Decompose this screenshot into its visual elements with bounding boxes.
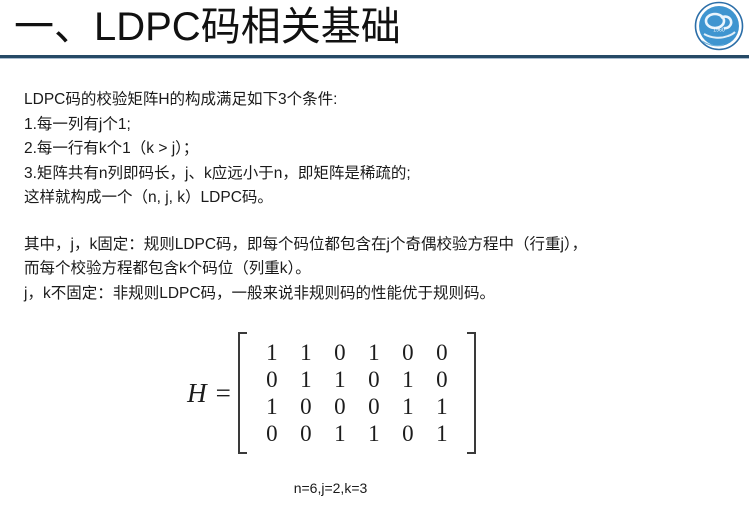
- matrix-cell-r3-c3: 0: [323, 393, 357, 420]
- matrix-right-bracket: [465, 332, 476, 454]
- matrix-cell-r3-c6: 1: [425, 393, 459, 420]
- matrix-cell-r1-c2: 1: [289, 339, 323, 366]
- matrix-cell-r4-c1: 0: [255, 420, 289, 447]
- parity-check-matrix: 110100011010100011001101: [238, 332, 476, 454]
- matrix-cell-r1-c6: 0: [425, 339, 459, 366]
- matrix-cell-r3-c5: 1: [391, 393, 425, 420]
- matrix-cell-r2-c4: 0: [357, 366, 391, 393]
- logo-year-text: 1960: [713, 28, 725, 34]
- matrix-left-bracket: [238, 332, 249, 454]
- matrix-cell-r1-c3: 0: [323, 339, 357, 366]
- matrix-equation: H = 110100011010100011001101: [0, 332, 749, 454]
- matrix-cell-r1-c1: 1: [255, 339, 289, 366]
- body-line: 2.每一行有k个1（k > j）；: [24, 137, 736, 162]
- paragraph-spacer: [24, 211, 736, 233]
- university-logo-icon: 1960: [694, 1, 744, 51]
- matrix-cell-r4-c6: 1: [425, 420, 459, 447]
- slide-body-text: LDPC码的校验矩阵H的构成满足如下3个条件: 1.每一列有j个1; 2.每一行…: [24, 88, 736, 306]
- slide-title-band: 一、LDPC码相关基础: [0, 0, 749, 58]
- title-divider-rule-soft: [0, 58, 749, 59]
- matrix-cell-r3-c4: 0: [357, 393, 391, 420]
- slide-root: 一、LDPC码相关基础 1960 LDPC码的校验矩阵H的构成满足如下3个条件:…: [0, 0, 749, 524]
- matrix-cell-r2-c1: 0: [255, 366, 289, 393]
- body-line: j，k不固定：非规则LDPC码，一般来说非规则码的性能优于规则码。: [24, 282, 736, 307]
- matrix-cell-grid: 110100011010100011001101: [249, 332, 465, 454]
- matrix-cell-r2-c5: 1: [391, 366, 425, 393]
- matrix-cell-r1-c4: 1: [357, 339, 391, 366]
- matrix-cell-r4-c4: 1: [357, 420, 391, 447]
- page-title: 一、LDPC码相关基础: [14, 1, 401, 53]
- body-line: 这样就构成一个（n, j, k）LDPC码。: [24, 186, 736, 211]
- matrix-cell-r4-c5: 0: [391, 420, 425, 447]
- equals-sign: =: [216, 380, 231, 407]
- matrix-cell-r2-c3: 1: [323, 366, 357, 393]
- matrix-cell-r2-c6: 0: [425, 366, 459, 393]
- body-line: 1.每一列有j个1;: [24, 113, 736, 138]
- matrix-caption: n=6,j=2,k=3: [0, 480, 749, 496]
- matrix-cell-r3-c2: 0: [289, 393, 323, 420]
- matrix-cell-r4-c2: 0: [289, 420, 323, 447]
- matrix-cell-r1-c5: 0: [391, 339, 425, 366]
- matrix-cell-r3-c1: 1: [255, 393, 289, 420]
- paragraph-conditions: LDPC码的校验矩阵H的构成满足如下3个条件: 1.每一列有j个1; 2.每一行…: [24, 88, 736, 211]
- paragraph-regular-irregular: 其中，j，k固定：规则LDPC码，即每个码位都包含在j个奇偶校验方程中（行重j）…: [24, 233, 736, 307]
- body-line: 3.矩阵共有n列即码长，j、k应远小于n，即矩阵是稀疏的;: [24, 162, 736, 187]
- matrix-cell-r2-c2: 1: [289, 366, 323, 393]
- body-line: 而每个校验方程都包含k个码位（列重k）。: [24, 257, 736, 282]
- matrix-cell-r4-c3: 1: [323, 420, 357, 447]
- body-line: 其中，j，k固定：规则LDPC码，即每个码位都包含在j个奇偶校验方程中（行重j）…: [24, 233, 736, 258]
- matrix-caption-text: n=6,j=2,k=3: [294, 480, 368, 496]
- matrix-symbol-h: H: [187, 380, 207, 407]
- body-line: LDPC码的校验矩阵H的构成满足如下3个条件:: [24, 88, 736, 113]
